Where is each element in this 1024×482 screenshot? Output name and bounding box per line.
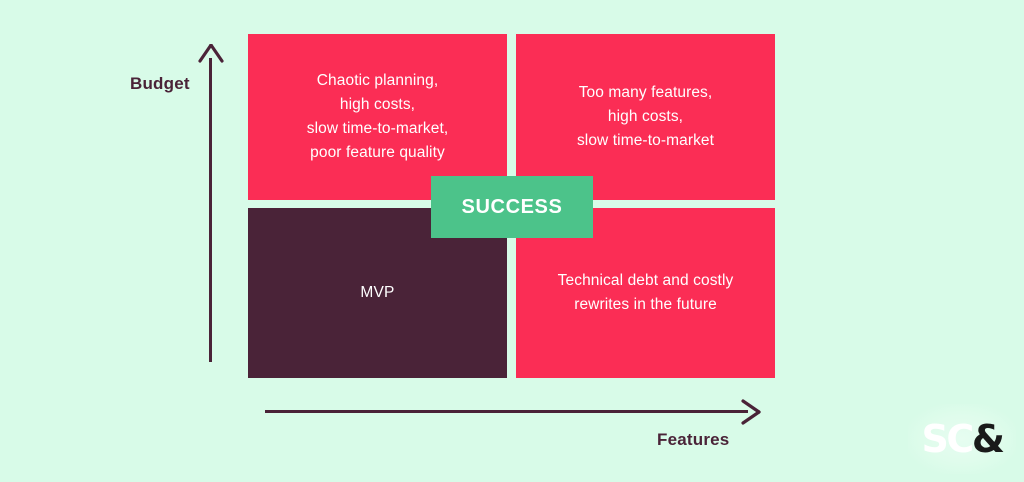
y-axis-line <box>209 58 212 362</box>
quadrant-top-left-text: Chaotic planning, high costs, slow time-… <box>307 69 449 164</box>
quadrant-bottom-right-text: Technical debt and costly rewrites in th… <box>558 269 734 317</box>
logo: SC& <box>908 404 1016 474</box>
success-badge: SUCCESS <box>431 176 593 238</box>
x-axis-line <box>265 410 748 413</box>
x-axis-label: Features <box>657 430 729 450</box>
quadrant-top-right-text: Too many features, high costs, slow time… <box>577 81 714 153</box>
arrow-right-icon <box>735 398 761 426</box>
quadrant-bottom-left-text: MVP <box>360 281 394 305</box>
logo-accent-text: & <box>972 417 1003 461</box>
arrow-up-icon <box>198 44 224 64</box>
logo-wordmark: SC& <box>922 420 1003 458</box>
success-badge-label: SUCCESS <box>462 196 563 219</box>
diagram-canvas: Budget Features Chaotic planning, high c… <box>0 0 1024 482</box>
y-axis-label: Budget <box>130 74 190 94</box>
logo-primary-text: SC <box>922 417 972 461</box>
